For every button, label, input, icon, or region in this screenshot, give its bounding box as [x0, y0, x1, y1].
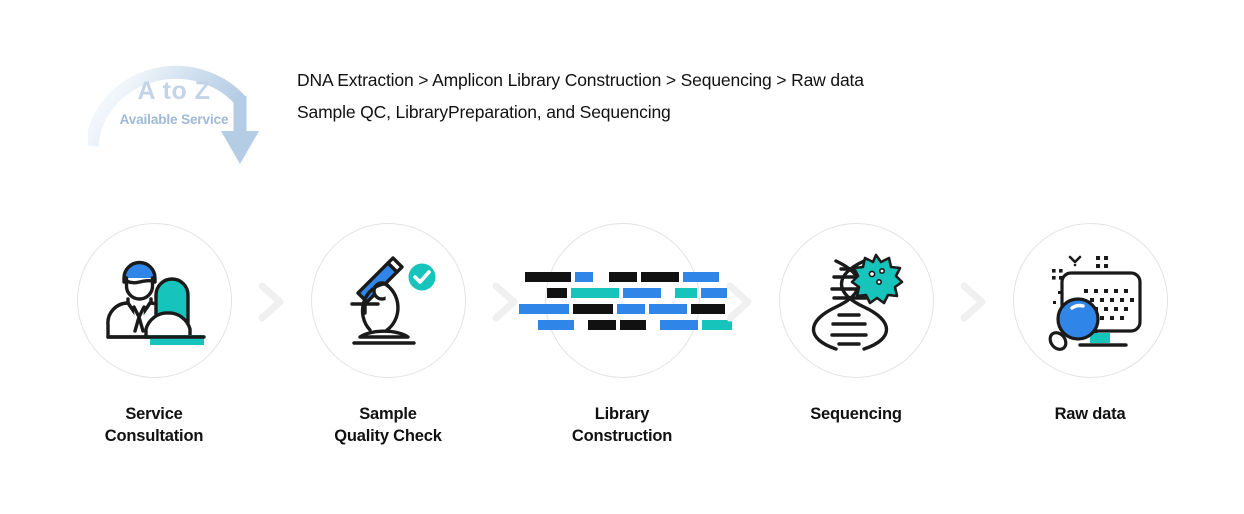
sequence-bar-row [512, 320, 732, 330]
step-icon-circle [311, 223, 466, 378]
sequence-bar-segment [683, 272, 719, 282]
step-label-line1: Service [125, 405, 182, 423]
consultation-people-icon [98, 251, 210, 351]
sequence-bar-segment [571, 288, 619, 298]
sequence-bar-segment [675, 288, 697, 298]
workflow-steps: Service Consultation [0, 220, 1244, 450]
dna-helix-virus-icon [808, 249, 904, 353]
step-label: Service Consultation [54, 403, 254, 447]
sequence-bar-segment [547, 288, 567, 298]
sequence-bar-row [525, 272, 719, 282]
step-label-line1: Library [595, 405, 650, 423]
sequence-bar-segment [597, 272, 605, 282]
sequence-bar-segment [588, 320, 616, 330]
workflow-step-sample-quality-check[interactable]: Sample Quality Check [288, 220, 488, 447]
step-icon-circle [779, 223, 934, 378]
chevron-right-icon [722, 280, 756, 324]
sequence-bars-icon [512, 272, 732, 330]
workflow-step-raw-data[interactable]: Raw data [990, 220, 1190, 425]
workflow-step-library-construction[interactable]: Library Construction [522, 220, 722, 447]
step-label: Library Construction [522, 403, 722, 447]
sequence-bar-segment [538, 320, 574, 330]
sequence-bar-segment [617, 304, 645, 314]
step-label: Sequencing [756, 403, 956, 425]
sequence-bar-segment [623, 288, 661, 298]
step-icon-circle [77, 223, 232, 378]
sequence-bar-segment [620, 320, 646, 330]
sequence-bar-segment [575, 272, 593, 282]
step-label-line1: Sequencing [810, 405, 902, 423]
description-line-1: DNA Extraction > Amplicon Library Constr… [297, 64, 1017, 96]
microscope-check-icon [336, 251, 440, 351]
sequence-bar-segment [525, 272, 571, 282]
sequence-bar-segment [660, 320, 698, 330]
step-label-line1: Raw data [1055, 405, 1126, 423]
step-label-line1: Sample [359, 405, 417, 423]
workflow-description: DNA Extraction > Amplicon Library Constr… [297, 64, 1017, 128]
sequence-bar-row [519, 304, 725, 314]
sequence-bar-segment [519, 304, 569, 314]
sequence-bar-segment [650, 320, 656, 330]
sequence-bar-segment [691, 304, 725, 314]
description-line-2: Sample QC, LibraryPreparation, and Seque… [297, 96, 1017, 128]
sequence-bar-row [517, 288, 727, 298]
step-label-line2: Construction [522, 425, 722, 447]
a-to-z-badge: A to Z Available Service [88, 34, 293, 174]
sequence-bar-segment [641, 272, 679, 282]
workflow-step-sequencing[interactable]: Sequencing [756, 220, 956, 425]
curved-down-arrow-icon [88, 34, 293, 174]
sequence-bar-segment [517, 288, 543, 298]
step-label: Sample Quality Check [288, 403, 488, 447]
sequence-bar-segment [512, 320, 534, 330]
step-label-line2: Consultation [54, 425, 254, 447]
step-label: Raw data [990, 403, 1190, 425]
sequence-bar-segment [609, 272, 637, 282]
sequence-bar-segment [665, 288, 671, 298]
chevron-right-icon [254, 280, 288, 324]
sequence-bar-segment [649, 304, 687, 314]
monitor-magnifier-data-icon [1034, 249, 1146, 353]
sequence-bar-segment [578, 320, 584, 330]
step-label-line2: Quality Check [288, 425, 488, 447]
step-icon-circle [545, 223, 700, 378]
step-icon-circle [1013, 223, 1168, 378]
sequence-bar-segment [573, 304, 613, 314]
workflow-step-service-consultation[interactable]: Service Consultation [54, 220, 254, 447]
chevron-right-icon [956, 280, 990, 324]
